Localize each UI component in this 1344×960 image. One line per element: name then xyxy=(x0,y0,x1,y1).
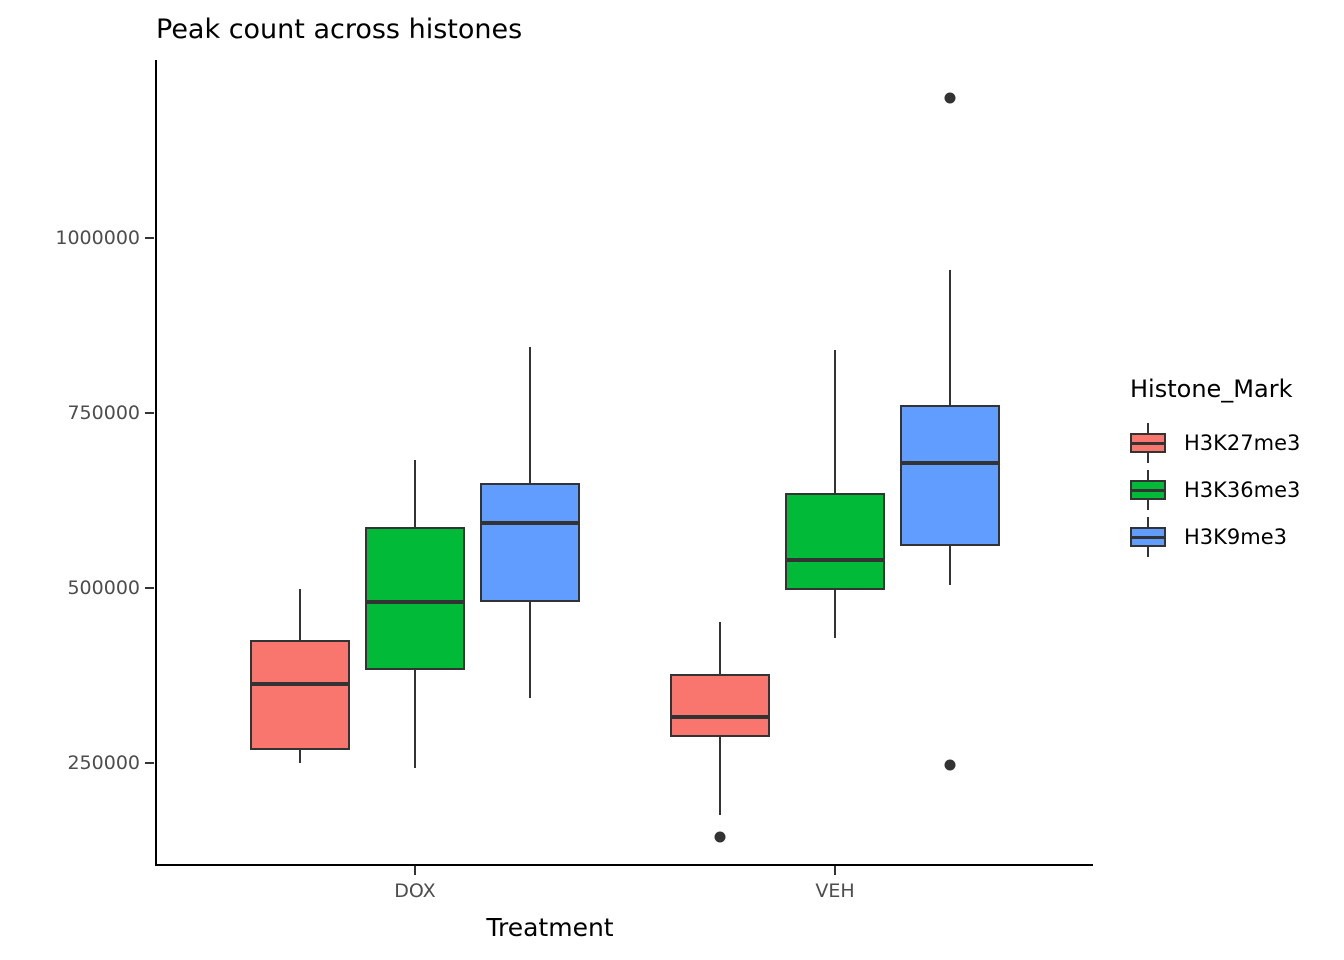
whisker-upper xyxy=(414,460,416,527)
median-line xyxy=(785,558,885,562)
y-tick-label: 250000 xyxy=(0,752,140,774)
box-H3K27me3-VEH[interactable] xyxy=(670,674,770,737)
whisker-upper xyxy=(949,270,951,405)
page-title: Peak count across histones xyxy=(156,14,522,45)
box-H3K9me3-DOX[interactable] xyxy=(480,483,580,602)
y-tick-mark xyxy=(145,762,154,764)
y-tick-mark xyxy=(145,412,154,414)
legend-item-H3K36me3[interactable]: H3K36me3 xyxy=(1128,466,1338,513)
y-tick-label: 500000 xyxy=(0,577,140,599)
legend-title: Histone_Mark xyxy=(1130,375,1338,403)
x-axis-title: Treatment xyxy=(0,913,1100,942)
whisker-lower xyxy=(529,602,531,698)
legend-item-label: H3K27me3 xyxy=(1184,431,1300,455)
x-tick-label: DOX xyxy=(394,880,435,902)
median-line xyxy=(250,682,350,686)
y-tick-label: 1000000 xyxy=(0,227,140,249)
legend-item-H3K27me3[interactable]: H3K27me3 xyxy=(1128,419,1338,466)
whisker-upper xyxy=(299,589,301,640)
legend-items: H3K27me3H3K36me3H3K9me3 xyxy=(1128,419,1338,560)
x-tick-mark xyxy=(834,866,836,875)
whisker-upper xyxy=(529,347,531,484)
legend-key-icon xyxy=(1128,517,1168,557)
outlier-point[interactable] xyxy=(945,93,956,104)
box-H3K9me3-VEH[interactable] xyxy=(900,405,1000,546)
box-H3K36me3-VEH[interactable] xyxy=(785,493,885,590)
median-line xyxy=(480,521,580,525)
whisker-upper xyxy=(719,622,721,674)
x-tick-mark xyxy=(414,866,416,875)
box-H3K27me3-DOX[interactable] xyxy=(250,640,350,751)
whisker-lower xyxy=(414,670,416,768)
legend-item-label: H3K9me3 xyxy=(1184,525,1287,549)
whisker-lower xyxy=(299,750,301,763)
y-tick-mark xyxy=(145,237,154,239)
legend: Histone_Mark H3K27me3H3K36me3H3K9me3 xyxy=(1128,375,1338,560)
whisker-lower xyxy=(834,590,836,638)
y-tick-mark xyxy=(145,587,154,589)
legend-key-icon xyxy=(1128,423,1168,463)
median-line xyxy=(670,715,770,719)
x-tick-label: VEH xyxy=(815,880,854,902)
legend-item-H3K9me3[interactable]: H3K9me3 xyxy=(1128,513,1338,560)
median-line xyxy=(365,600,465,604)
outlier-point[interactable] xyxy=(945,760,956,771)
whisker-lower xyxy=(949,546,951,585)
median-line xyxy=(900,461,1000,465)
whisker-lower xyxy=(719,737,721,815)
legend-key-icon xyxy=(1128,470,1168,510)
whisker-upper xyxy=(834,350,836,493)
y-tick-label: 750000 xyxy=(0,402,140,424)
legend-item-label: H3K36me3 xyxy=(1184,478,1300,502)
box-H3K36me3-DOX[interactable] xyxy=(365,527,465,670)
boxplot-figure: Peak count across histones Count Treatme… xyxy=(0,0,1344,960)
outlier-point[interactable] xyxy=(715,832,726,843)
